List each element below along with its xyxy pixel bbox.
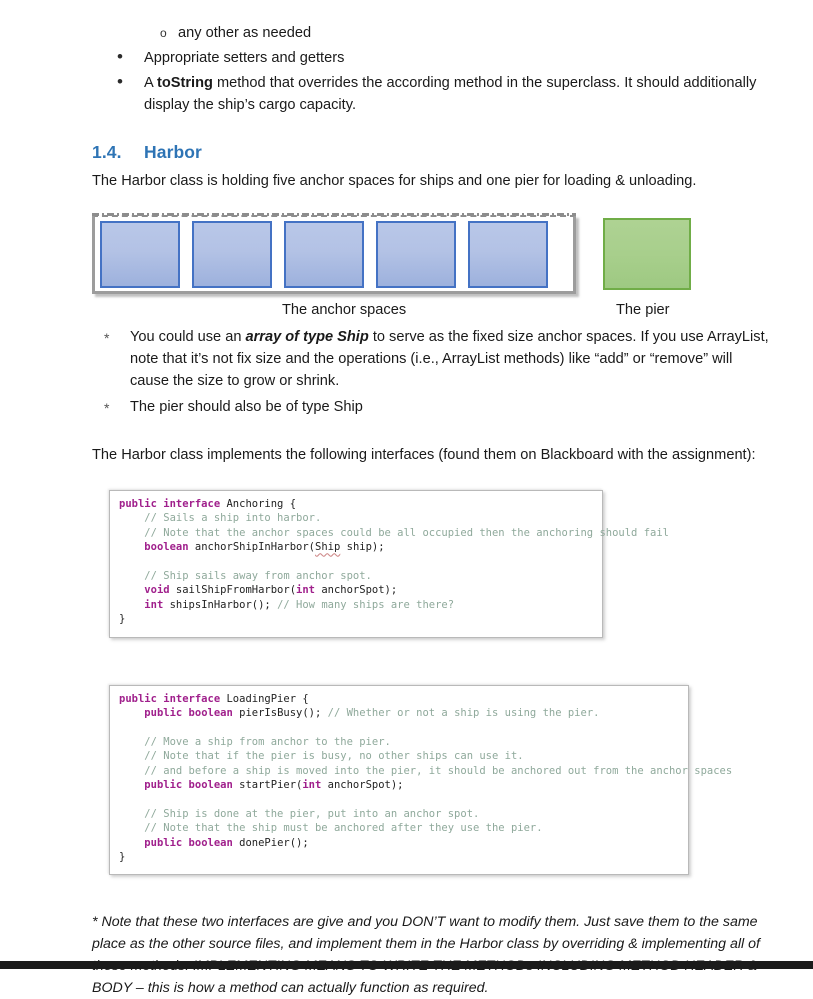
code-token-plain: [119, 750, 144, 762]
code-token-plain: [119, 599, 144, 611]
list-item: o any other as needed: [92, 22, 772, 44]
code-line: public boolean pierIsBusy(); // Whether …: [119, 706, 679, 720]
code-token-plain: [119, 584, 144, 596]
code-line: boolean anchorShipInHarbor(Ship ship);: [119, 540, 593, 554]
code-token-plain: [119, 707, 144, 719]
code-token-cmt: // and before a ship is moved into the p…: [144, 765, 732, 777]
list-item: • A toString method that overrides the a…: [92, 72, 772, 116]
list-item: • Appropriate setters and getters: [92, 47, 772, 69]
dashed-top-border: [92, 213, 576, 216]
code-token-plain: anchorSpot);: [315, 584, 397, 596]
code-line: [119, 792, 679, 806]
requirements-bullet-list: o any other as needed • Appropriate sett…: [92, 22, 772, 116]
code-token-cmt: // Note that the ship must be anchored a…: [144, 822, 542, 834]
section-heading: 1.4.Harbor: [92, 142, 772, 163]
code-token-kw: public boolean: [144, 837, 233, 849]
dot-bullet-icon: •: [117, 71, 123, 93]
code-token-cmt: // Ship is done at the pier, put into an…: [144, 808, 479, 820]
code-token-plain: shipsInHarbor();: [163, 599, 277, 611]
code-token-plain: [119, 512, 144, 524]
note-text-1: You could use an: [130, 329, 246, 345]
list-item-label: Appropriate setters and getters: [144, 50, 344, 66]
code-token-plain: [119, 765, 144, 777]
code-token-cmt: // Note that if the pier is busy, no oth…: [144, 750, 523, 762]
code-block-loadingpier: public interface LoadingPier { public bo…: [109, 685, 689, 876]
code-token-kw: void: [144, 584, 169, 596]
code-token-cmt: // Move a ship from anchor to the pier.: [144, 736, 391, 748]
code-token-cmt: // Sails a ship into harbor.: [144, 512, 321, 524]
code-token-kw: int: [144, 599, 163, 611]
code-token-kw: int: [302, 779, 321, 791]
pier-box: [603, 218, 691, 290]
code-line: // Ship sails away from anchor spot.: [119, 569, 593, 583]
asterisk-bullet-icon: *: [104, 397, 109, 419]
pier-label: The pier: [616, 302, 670, 318]
code-line: // Note that the ship must be anchored a…: [119, 821, 679, 835]
code-line: [119, 720, 679, 734]
code-line: void sailShipFromHarbor(int anchorSpot);: [119, 583, 593, 597]
circle-bullet-icon: o: [160, 22, 167, 44]
section-number: 1.4.: [92, 142, 144, 163]
code-line: }: [119, 612, 593, 626]
code-line: // Move a ship from anchor to the pier.: [119, 735, 679, 749]
code-block-anchoring: public interface Anchoring { // Sails a …: [109, 490, 603, 638]
code-token-plain: donePier();: [233, 837, 309, 849]
code-token-cmt: // Whether or not a ship is using the pi…: [328, 707, 600, 719]
code-line: // and before a ship is moved into the p…: [119, 764, 679, 778]
note-emphasis: array of type Ship: [246, 329, 369, 345]
code-token-spell: Ship: [315, 541, 340, 553]
code-line: public boolean startPier(int anchorSpot)…: [119, 778, 679, 792]
code-token-plain: Anchoring {: [220, 498, 296, 510]
code-line: // Sails a ship into harbor.: [119, 511, 593, 525]
list-item-label: The pier should also be of type Ship: [130, 399, 363, 415]
code-token-plain: [119, 837, 144, 849]
list-item-text-before: A: [144, 75, 157, 91]
section-intro-paragraph: The Harbor class is holding five anchor …: [92, 170, 772, 192]
code-token-kw: public boolean: [144, 779, 233, 791]
code-token-kw: public interface: [119, 498, 220, 510]
list-item-label: You could use an array of type Ship to s…: [130, 329, 769, 389]
document-content: o any other as needed • Appropriate sett…: [92, 0, 772, 999]
code-token-kw: public interface: [119, 693, 220, 705]
anchor-box: [468, 221, 548, 288]
anchor-spaces-label: The anchor spaces: [282, 302, 406, 318]
code-line: public interface LoadingPier {: [119, 692, 679, 706]
code-token-plain: [119, 822, 144, 834]
code-token-kw: boolean: [144, 541, 188, 553]
code-token-plain: [119, 808, 144, 820]
code-token-cmt: // Note that the anchor spaces could be …: [144, 527, 669, 539]
code-token-plain: anchorShipInHarbor(: [189, 541, 315, 553]
code-token-plain: [119, 736, 144, 748]
interfaces-intro-paragraph: The Harbor class implements the followin…: [92, 444, 772, 466]
dot-bullet-icon: •: [117, 46, 123, 68]
list-item-text-after: method that overrides the according meth…: [144, 75, 756, 113]
anchor-box: [376, 221, 456, 288]
page-bottom-bar: [0, 961, 813, 969]
notes-bullet-list: * You could use an array of type Ship to…: [92, 326, 772, 418]
list-item: * The pier should also be of type Ship: [92, 396, 772, 418]
code-token-cmt: // How many ships are there?: [277, 599, 454, 611]
code-token-plain: }: [119, 851, 125, 863]
code-token-plain: [119, 541, 144, 553]
list-item-bold-term: toString: [157, 75, 213, 91]
code-token-plain: anchorSpot);: [321, 779, 403, 791]
anchor-boxes-row: [100, 221, 548, 288]
code-line: int shipsInHarbor(); // How many ships a…: [119, 598, 593, 612]
code-line: // Ship is done at the pier, put into an…: [119, 807, 679, 821]
asterisk-bullet-icon: *: [104, 327, 109, 349]
anchor-box: [284, 221, 364, 288]
code-token-plain: [119, 570, 144, 582]
code-line: public interface Anchoring {: [119, 497, 593, 511]
anchor-spaces-container: [92, 215, 576, 294]
code-token-plain: ship);: [340, 541, 384, 553]
code-token-cmt: // Ship sails away from anchor spot.: [144, 570, 372, 582]
list-item: * You could use an array of type Ship to…: [92, 326, 772, 392]
list-item-label: any other as needed: [178, 25, 311, 41]
code-token-kw: int: [296, 584, 315, 596]
document-page: o any other as needed • Appropriate sett…: [0, 0, 813, 961]
code-line: // Note that if the pier is busy, no oth…: [119, 749, 679, 763]
code-token-plain: sailShipFromHarbor(: [170, 584, 296, 596]
code-line: // Note that the anchor spaces could be …: [119, 526, 593, 540]
code-line: }: [119, 850, 679, 864]
section-title: Harbor: [144, 142, 202, 162]
diagram-labels: The anchor spaces The pier: [92, 302, 772, 324]
code-token-kw: public boolean: [144, 707, 233, 719]
anchor-box: [192, 221, 272, 288]
anchor-box: [100, 221, 180, 288]
footnote-paragraph: * Note that these two interfaces are giv…: [92, 911, 772, 999]
code-token-plain: pierIsBusy();: [233, 707, 328, 719]
code-line: public boolean donePier();: [119, 836, 679, 850]
code-token-plain: [119, 779, 144, 791]
list-item-label: A toString method that overrides the acc…: [144, 75, 756, 113]
code-token-plain: startPier(: [233, 779, 303, 791]
code-token-plain: }: [119, 613, 125, 625]
harbor-diagram: The anchor spaces The pier: [92, 204, 772, 322]
code-line: [119, 555, 593, 569]
code-token-plain: [119, 527, 144, 539]
code-token-plain: LoadingPier {: [220, 693, 309, 705]
